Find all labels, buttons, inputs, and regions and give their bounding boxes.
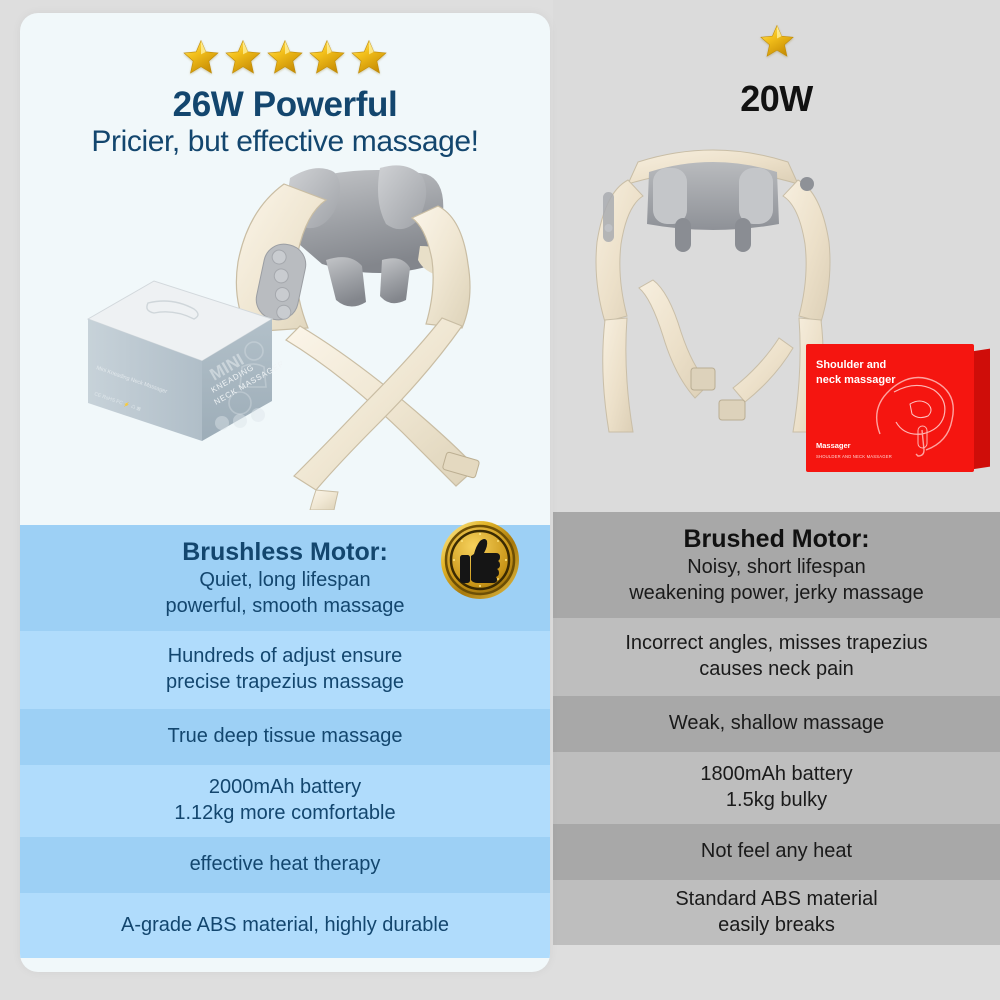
left-product-box: MINI KNEADING NECK MASSAGER Mini Kneadin…: [82, 275, 282, 455]
red-box-sublabel: SHOULDER AND NECK MASSAGER: [816, 454, 892, 459]
left-feature-line: True deep tissue massage: [168, 724, 403, 750]
left-feature-text: True deep tissue massage: [20, 709, 550, 765]
left-feature-line: 1.12kg more comfortable: [174, 801, 395, 827]
right-feature-row-3: Weak, shallow massage: [553, 696, 1000, 752]
left-feature-line: effective heat therapy: [190, 852, 381, 878]
left-panel-subtitle: Pricier, but effective massage!: [20, 125, 550, 159]
left-feature-text: effective heat therapy: [20, 837, 550, 893]
right-feature-row-2: Incorrect angles, misses trapeziuscauses…: [553, 618, 1000, 696]
gold-star-icon: [349, 37, 389, 77]
left-feature-row-5: effective heat therapy: [20, 837, 550, 893]
right-feature-line: Standard ABS material: [675, 887, 877, 913]
gold-star-icon: [307, 37, 347, 77]
right-feature-line: weakening power, jerky massage: [629, 581, 924, 607]
left-feature-line: Quiet, long lifespan: [199, 568, 370, 594]
right-star-rating: [553, 22, 1000, 60]
right-feature-text: Incorrect angles, misses trapeziuscauses…: [553, 618, 1000, 696]
right-feature-text: Weak, shallow massage: [553, 696, 1000, 752]
left-feature-line: A-grade ABS material, highly durable: [121, 913, 449, 939]
right-feature-text: Brushed Motor:Noisy, short lifespanweake…: [553, 512, 1000, 618]
infographic-root: 20W: [0, 0, 1000, 1000]
left-comparison-panel: 26W Powerful Pricier, but effective mass…: [20, 13, 550, 972]
right-feature-line: easily breaks: [718, 913, 835, 939]
left-feature-text: A-grade ABS material, highly durable: [20, 893, 550, 958]
left-feature-row-3: True deep tissue massage: [20, 709, 550, 765]
right-feature-line: 1.5kg bulky: [726, 788, 827, 814]
red-box-title-line2: neck massager: [816, 373, 911, 388]
left-feature-row-2: Hundreds of adjust ensureprecise trapezi…: [20, 631, 550, 709]
left-feature-line: precise trapezius massage: [166, 670, 404, 696]
right-product-box: Shoulder and neck massager Massager SHOU…: [806, 344, 974, 472]
right-product-image: [583, 132, 843, 462]
thumbs-up-badge-icon: [440, 520, 520, 600]
red-box-title: Shoulder and neck massager: [816, 358, 911, 388]
right-feature-row-4: 1800mAh battery1.5kg bulky: [553, 752, 1000, 824]
right-feature-line: causes neck pain: [699, 657, 854, 683]
red-box-side: [972, 349, 990, 470]
right-panel-title: 20W: [553, 78, 1000, 120]
gold-star-icon: [223, 37, 263, 77]
right-feature-line: Noisy, short lifespan: [687, 555, 866, 581]
left-star-rating: [20, 37, 550, 77]
left-feature-row-6: A-grade ABS material, highly durable: [20, 893, 550, 958]
right-feature-line: Weak, shallow massage: [669, 711, 884, 737]
gold-star-icon: [181, 37, 221, 77]
right-feature-heading: Brushed Motor:: [683, 523, 869, 555]
right-feature-text: Standard ABS materialeasily breaks: [553, 880, 1000, 945]
left-feature-line: Hundreds of adjust ensure: [168, 644, 403, 670]
red-box-front: Shoulder and neck massager Massager SHOU…: [806, 344, 974, 472]
left-feature-text: 2000mAh battery1.12kg more comfortable: [20, 765, 550, 837]
gold-star-icon: [265, 37, 305, 77]
right-comparison-panel: 20W: [553, 0, 1000, 945]
left-feature-heading: Brushless Motor:: [182, 536, 388, 568]
left-feature-line: 2000mAh battery: [209, 775, 361, 801]
right-feature-line: Incorrect angles, misses trapezius: [625, 631, 927, 657]
right-feature-text: 1800mAh battery1.5kg bulky: [553, 752, 1000, 824]
right-feature-text: Not feel any heat: [553, 824, 1000, 880]
right-feature-row-1: Brushed Motor:Noisy, short lifespanweake…: [553, 512, 1000, 618]
right-feature-row-6: Standard ABS materialeasily breaks: [553, 880, 1000, 945]
right-feature-row-5: Not feel any heat: [553, 824, 1000, 880]
left-panel-title: 26W Powerful: [20, 85, 550, 125]
red-box-title-line1: Shoulder and: [816, 358, 911, 373]
left-feature-text: Hundreds of adjust ensureprecise trapezi…: [20, 631, 550, 709]
gold-star-icon: [758, 22, 796, 60]
right-feature-line: Not feel any heat: [701, 839, 852, 865]
right-feature-line: 1800mAh battery: [700, 762, 852, 788]
red-box-label: Massager: [816, 441, 851, 450]
left-feature-line: powerful, smooth massage: [165, 594, 404, 620]
left-feature-row-4: 2000mAh battery1.12kg more comfortable: [20, 765, 550, 837]
